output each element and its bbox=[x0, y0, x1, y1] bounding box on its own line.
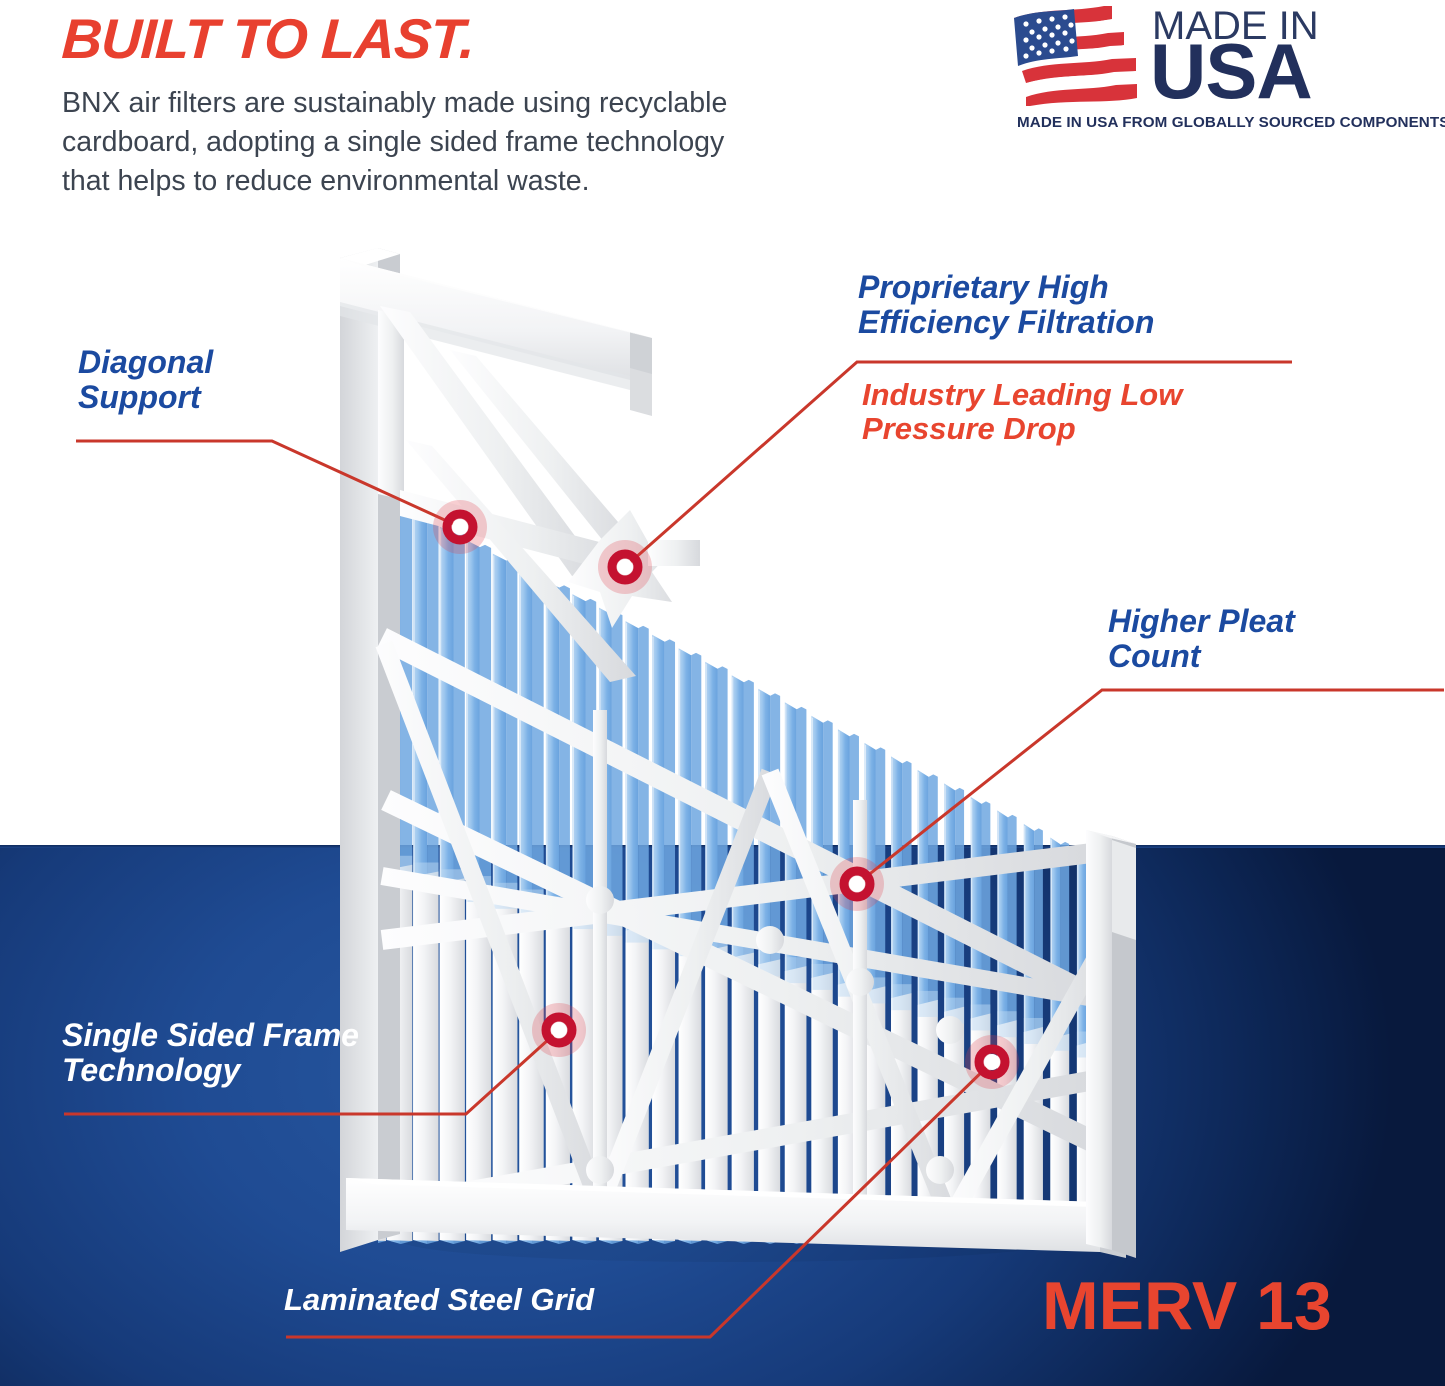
usa-flag-icon bbox=[1012, 6, 1137, 106]
callout-single-frame-line2: Technology bbox=[62, 1053, 359, 1088]
callout-single-sided-frame: Single Sided Frame Technology bbox=[62, 1018, 359, 1088]
headline-text: BUILT TO LAST. bbox=[60, 6, 476, 71]
callout-pleat-count-line1: Higher Pleat bbox=[1108, 604, 1295, 639]
callout-proprietary-line1: Proprietary High bbox=[858, 270, 1154, 305]
made-in-usa-badge: MADE IN USA MADE IN USA FROM GLOBALLY SO… bbox=[1012, 4, 1432, 132]
callout-proprietary-line2: Efficiency Filtration bbox=[858, 305, 1154, 340]
callout-pressure-drop-line1: Industry Leading Low bbox=[862, 378, 1182, 412]
infographic-root: BUILT TO LAST. BNX air filters are susta… bbox=[0, 0, 1445, 1386]
badge-fine-print: MADE IN USA FROM GLOBALLY SOURCED COMPON… bbox=[1017, 114, 1445, 131]
merv-rating-label: MERV 13 bbox=[1042, 1272, 1332, 1340]
callout-low-pressure-drop: Industry Leading Low Pressure Drop bbox=[862, 378, 1182, 446]
callout-diagonal-support-line2: Support bbox=[78, 380, 213, 415]
callout-steel-grid-line1: Laminated Steel Grid bbox=[284, 1283, 594, 1317]
callout-pleat-count-line2: Count bbox=[1108, 639, 1295, 674]
page-title: BUILT TO LAST. bbox=[60, 6, 476, 71]
callout-laminated-steel-grid: Laminated Steel Grid bbox=[284, 1283, 594, 1317]
frame-right-post bbox=[1086, 830, 1136, 1258]
badge-usa-label: USA bbox=[1150, 32, 1312, 110]
callout-single-frame-line1: Single Sided Frame bbox=[62, 1018, 359, 1053]
callout-proprietary-filtration: Proprietary High Efficiency Filtration bbox=[858, 270, 1154, 340]
callout-pressure-drop-line2: Pressure Drop bbox=[862, 412, 1182, 446]
callout-diagonal-support: Diagonal Support bbox=[78, 345, 213, 415]
callout-higher-pleat-count: Higher Pleat Count bbox=[1108, 604, 1295, 674]
callout-diagonal-support-line1: Diagonal bbox=[78, 345, 213, 380]
intro-paragraph: BNX air filters are sustainably made usi… bbox=[62, 84, 742, 200]
